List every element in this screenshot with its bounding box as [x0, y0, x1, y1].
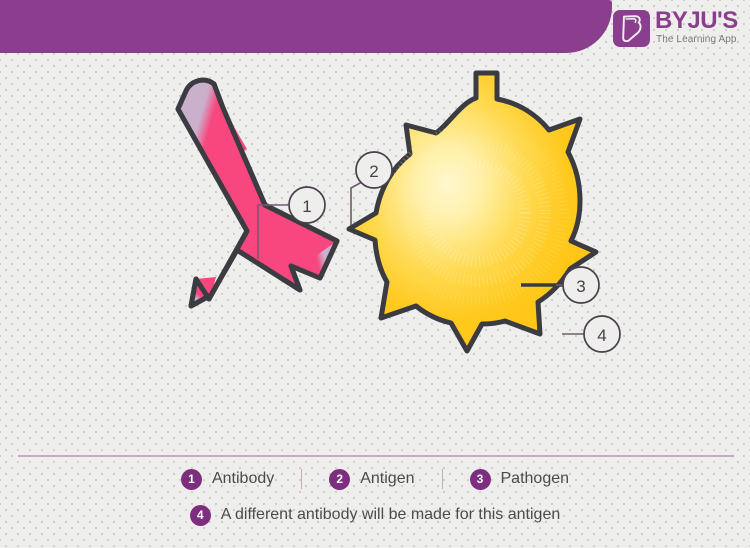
legend-item-different-antibody: 4 A different antibody will be made for …: [190, 505, 560, 526]
legend-label-antigen: Antigen: [360, 470, 414, 488]
legend-label-pathogen: Pathogen: [501, 470, 570, 488]
legend-label-different-antibody: A different antibody will be made for th…: [221, 506, 560, 524]
logo-tagline: The Learning App: [656, 34, 737, 45]
header-bar: [0, 0, 612, 53]
byjus-b-logo-icon: [621, 15, 642, 42]
callout-number-2: 2: [369, 162, 378, 181]
callout-number-3: 3: [576, 277, 585, 296]
pathogen-cell: [349, 73, 596, 351]
legend-badge-3: 3: [470, 469, 491, 490]
legend-separator: [301, 469, 302, 489]
legend-badge-4: 4: [190, 505, 211, 526]
legend-item-pathogen: 3 Pathogen: [470, 469, 570, 490]
byjus-logo: BYJU'S The Learning App: [613, 9, 745, 51]
legend: 1 Antibody 2 Antigen 3 Pathogen 4 A diff…: [0, 464, 750, 530]
logo-mark-tile: [613, 10, 650, 47]
legend-separator: [442, 469, 443, 489]
callout-number-4: 4: [597, 326, 606, 345]
legend-item-antigen: 2 Antigen: [329, 469, 414, 490]
callout-number-1: 1: [302, 197, 311, 216]
immunology-illustration: 1 2 3 4: [0, 53, 750, 453]
callout-4: 4: [562, 316, 620, 352]
legend-item-antibody: 1 Antibody: [181, 469, 274, 490]
infographic-page: ANTIGENS AND IMMUNOLOGY BYJU'S The Learn…: [0, 0, 750, 548]
legend-row-2: 4 A different antibody will be made for …: [0, 500, 750, 530]
logo-wordmark: BYJU'S: [655, 9, 738, 33]
legend-label-antibody: Antibody: [212, 470, 274, 488]
legend-badge-2: 2: [329, 469, 350, 490]
divider: [18, 455, 734, 457]
legend-badge-1: 1: [181, 469, 202, 490]
legend-row-1: 1 Antibody 2 Antigen 3 Pathogen: [0, 464, 750, 494]
